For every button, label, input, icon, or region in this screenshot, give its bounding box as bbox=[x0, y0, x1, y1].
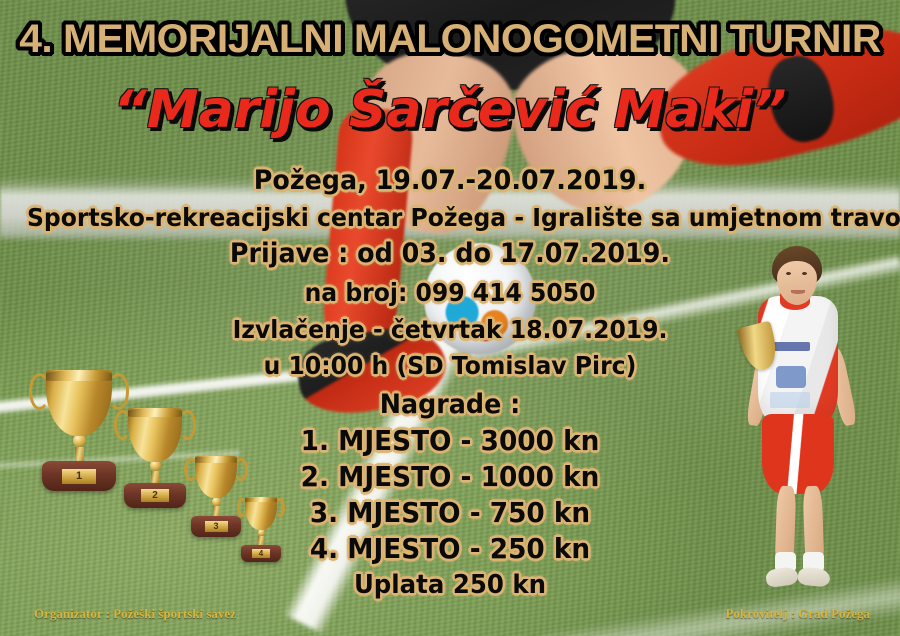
draw-date-line: Izvlačenje - četvrtak 18.07.2019. bbox=[27, 315, 873, 344]
player-eye-right bbox=[802, 272, 807, 275]
prizes-header: Nagrade : bbox=[27, 389, 873, 420]
sponsor-credit: Pokrovitelj : Grad Požega bbox=[725, 606, 870, 622]
prize-item-3: 3. MJESTO - 750 kn bbox=[27, 496, 873, 529]
poster-subtitle: “Marijo Šarčević Maki” bbox=[0, 80, 900, 140]
organizer-credit: Organizator : Požeški športski savez bbox=[34, 606, 236, 622]
draw-time-line: u 10:00 h (SD Tomislav Pirc) bbox=[27, 351, 873, 380]
prize-item-1: 1. MJESTO - 3000 kn bbox=[27, 424, 873, 457]
entry-fee-line: Uplata 250 kn bbox=[27, 570, 873, 600]
prize-item-2: 2. MJESTO - 1000 kn bbox=[27, 460, 873, 493]
phone-line: na broj: 099 414 5050 bbox=[27, 278, 873, 307]
player-eye-left bbox=[786, 272, 791, 275]
venue-line: Sportsko-rekreacijski centar Požega - Ig… bbox=[27, 203, 873, 232]
poster-title: 4. MEMORIJALNI MALONOGOMETNI TURNIR bbox=[0, 17, 900, 62]
prize-item-4: 4. MJESTO - 250 kn bbox=[27, 532, 873, 565]
registration-line: Prijave : od 03. do 17.07.2019. bbox=[27, 238, 873, 269]
tournament-poster: 1 2 3 4 bbox=[0, 0, 900, 636]
tournament-date-line: Požega, 19.07.-20.07.2019. bbox=[27, 165, 873, 196]
